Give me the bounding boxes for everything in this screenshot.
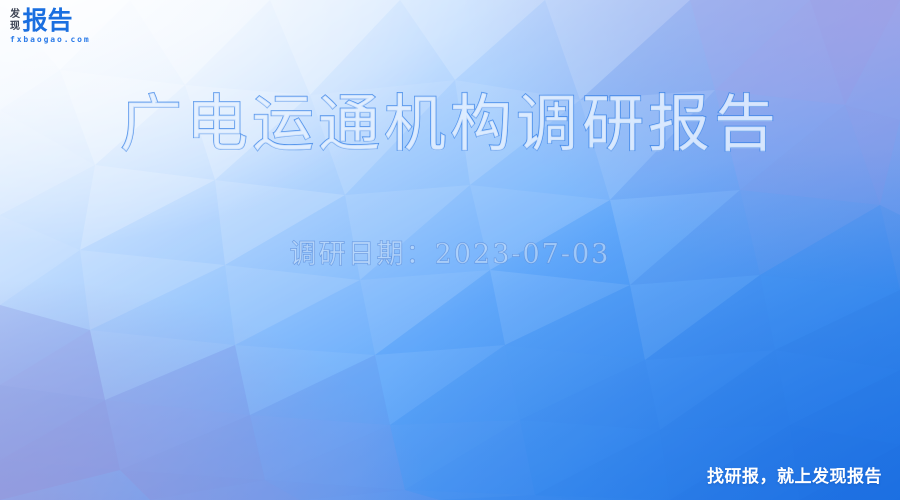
brand-tagline: 找研报，就上发现报告: [707, 466, 882, 488]
page-title: 广电运通机构调研报告: [120, 88, 780, 160]
logo-char-xian: 现: [10, 21, 20, 33]
logo-stacked-chars: 发 现: [10, 9, 20, 33]
logo-main-text: 报告: [23, 8, 73, 34]
site-logo[interactable]: 发 现 报告 fxbaogao.com: [10, 7, 106, 44]
logo-url-text: fxbaogao.com: [10, 35, 106, 44]
logo-wordmark: 发 现 报告: [10, 7, 106, 34]
survey-date-subtitle: 调研日期：2023-07-03: [290, 238, 611, 272]
subtitle-container: 调研日期：2023-07-03: [0, 238, 900, 272]
logo-char-fa: 发: [10, 9, 20, 21]
report-cover-slide: 发 现 报告 fxbaogao.com 广电运通机构调研报告 调研日期：2023…: [0, 0, 900, 500]
title-container: 广电运通机构调研报告: [0, 88, 900, 160]
